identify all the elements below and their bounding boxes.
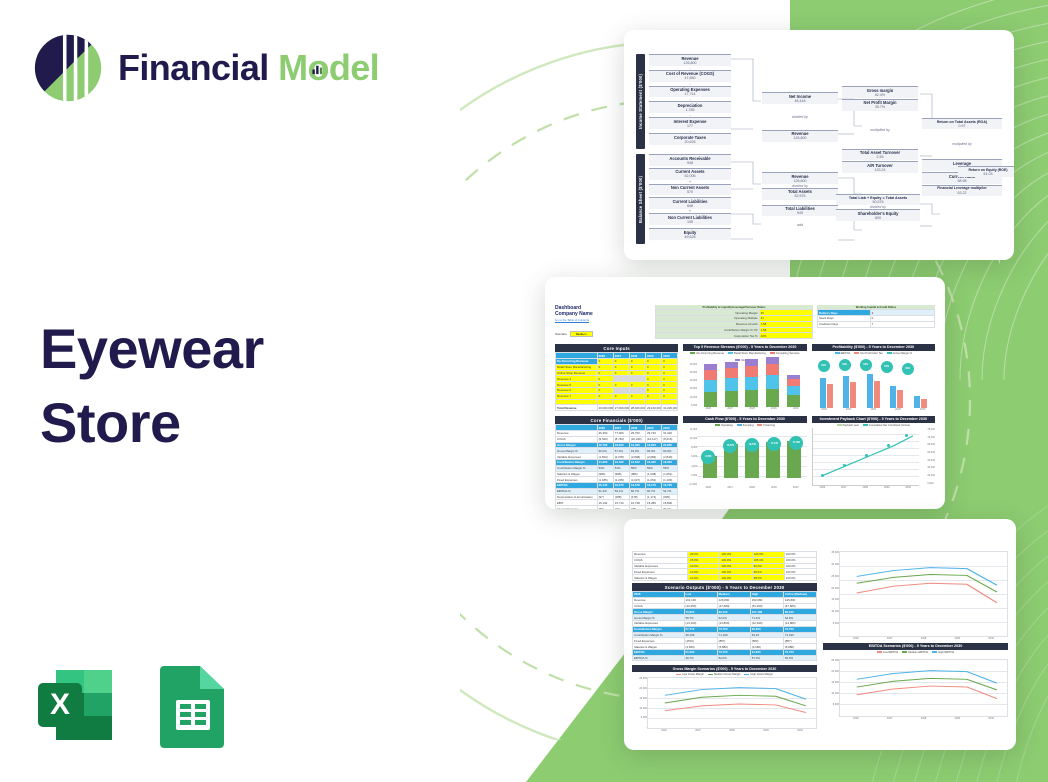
scenario-inputs-table: Revenue-20.0%100.0%120.0%100.0% COGS-15.… <box>632 551 817 581</box>
fnode: Corporate Taxes20,626 <box>649 133 731 145</box>
x-axis-labels: 2026 2027 2028 2029 2030 <box>632 729 817 732</box>
table-row: EBITDA %48.7%52.0%57.0%52.0% <box>633 655 817 661</box>
bar-chart-accent-icon <box>312 62 325 75</box>
fnode: Total Assets52,576 <box>762 188 838 200</box>
core-financials-block: Core Financials ($'000) 2026202720282029… <box>555 416 678 509</box>
scenario-outputs-card[interactable]: Revenue-20.0%100.0%120.0%100.0% COGS-15.… <box>624 519 1016 750</box>
table-row: Corporation Tax %20% <box>656 333 813 339</box>
fnode: Net Income48,418 <box>762 92 838 104</box>
x-axis-labels: 2026 2027 2028 2029 2030 <box>812 408 935 411</box>
x-axis-labels: 2026 2027 2028 2029 2030 <box>812 486 919 489</box>
fnode: Equity49,628 <box>649 228 731 240</box>
core-financials-table: 20262027202820292030 Revenue26,30077,000… <box>555 424 678 509</box>
table-row: Interest Expense(80)(10)(28)(10)(8,14) <box>556 506 678 509</box>
plot-area: 8,456 16,370 16,750 17,120 17,480 <box>697 428 806 486</box>
fnode: Total Liab + Equity = Total Assets50,576 <box>836 194 920 205</box>
file-format-icons: X <box>34 662 230 748</box>
ratios-blue-panel: Working Capital & Credit Ratios Debtors … <box>817 305 935 328</box>
mid-node-1: Net Income48,418 divided by Revenue126,8… <box>762 92 838 142</box>
pie-bar-chart-logo-icon <box>32 32 104 104</box>
plot-area: 75,000 70,000 60,000 50,000 40,000 30,00… <box>812 428 919 486</box>
fnode: Revenue126,800 <box>649 54 731 66</box>
brand-wordmark: Financial Model <box>118 47 379 89</box>
y-axis-labels: 30,000 25,000 20,000 15,000 10,000 5,000 <box>683 363 697 407</box>
brand-word-green: Model <box>278 47 379 88</box>
fnode: Current Assets52,006 <box>649 168 731 180</box>
fnode: Total Asset Turnover2.55 <box>842 149 918 161</box>
profitability-chart: Profitability ($'000) - 5 Years to Decem… <box>812 344 935 411</box>
microsoft-excel-icon[interactable]: X <box>34 662 120 748</box>
y-axis-labels: 35,000 30,000 25,000 20,000 15,000 10,00… <box>823 551 839 637</box>
balance-sheet-band: Balance Sheet ($'000) <box>636 154 645 244</box>
fnode: Cost of Revenue (COGS)47,680 <box>649 70 731 82</box>
fnode: Shareholder's Equity800 <box>836 209 920 221</box>
income-statement-band: Income Statement ($'000) <box>636 54 645 149</box>
core-financials-title: Core Financials ($'000) <box>555 416 678 424</box>
flow-connectors-1 <box>731 54 761 244</box>
brand-logo: Financial Model <box>32 32 379 104</box>
x-axis-labels: 2026 2027 2028 2029 2030 <box>683 407 806 410</box>
y-axis-labels: 75,000 70,000 60,000 50,000 40,000 30,00… <box>927 428 935 485</box>
plot-area <box>839 659 1008 717</box>
fnode: Gross margin62.4% <box>842 86 918 98</box>
multiplied-by-label: multiplied by <box>842 111 918 149</box>
operation-label: add <box>762 216 838 227</box>
far-node-group: Return on Total Assets (ROA)0.97 multipl… <box>922 118 1002 196</box>
ebitda-scenarios-chart: 35,000 30,000 25,000 20,000 15,000 10,00… <box>823 551 1008 655</box>
lower-scenarios-chart: 25,000 20,000 15,000 10,000 5,000 - <box>823 659 1008 720</box>
plot-area <box>839 551 1008 637</box>
ratios-green-panel: Profitability & Liquidity/Leverage/Turno… <box>655 305 813 339</box>
core-inputs-block: Core Inputs 2026 2027 2028 2029 2030 Re-… <box>555 344 678 411</box>
toc-link[interactable]: Go to the Table of Contents <box>555 318 651 322</box>
right-node-group-2: Total Liab + Equity = Total Assets50,576… <box>836 194 920 221</box>
scenario-table-title: Scenario Outputs ($'000) - 5 Years to De… <box>632 583 817 591</box>
core-inputs-title: Core Inputs <box>555 344 678 352</box>
y-axis-labels: 25,000 20,000 15,000 10,000 5,000 - <box>823 659 839 717</box>
right-node-group-1: Gross margin62.4% Net Profit Margin35.7%… <box>842 86 918 173</box>
plot-area: 62% 62% 62% 61% 60% <box>812 356 935 408</box>
scenario-label: Scenario <box>555 332 567 336</box>
dashboard-heading: Dashboard Company Name Go to the Table o… <box>555 305 651 337</box>
financial-statement-flow-card[interactable]: Income Statement ($'000) Balance Sheet (… <box>624 30 1014 260</box>
table-row: Salaries & Wages-10.0%100.0%98.0%100.0% <box>633 575 817 581</box>
x-axis-labels: 2026 2027 2028 2029 2030 <box>683 486 806 489</box>
brand-word-dark: Financial <box>118 47 269 88</box>
fnode: Accounts Receivable948 <box>649 154 731 166</box>
roe-node: Return on Equity (ROE) 61.03 <box>958 166 1014 177</box>
fnode: Revenue126,800 <box>762 130 838 142</box>
income-node-list: Revenue126,800 - Cost of Revenue (COGS)4… <box>649 54 731 145</box>
plot-area <box>647 677 817 729</box>
table-row: Creditors Days7 <box>818 321 935 327</box>
operation-label: divided by <box>762 104 838 130</box>
table-row: Total Revenue20,000,00027,000,00028,400,… <box>556 405 678 411</box>
y-axis-labels: 25,000 20,000 15,000 10,000 5,000 - <box>632 677 647 729</box>
green-ratio-table: Operating Margin35 Operating Multiple31 … <box>655 309 813 339</box>
balance-node-list: Accounts Receivable948 Current Assets52,… <box>649 154 731 240</box>
fnode: Non Current Liabilities105 <box>649 213 731 225</box>
fnode: Return on Total Assets (ROA)0.97 <box>922 118 1002 129</box>
chart-legend: Low EBITDA Medium EBITDA High EBITDA <box>823 650 1008 655</box>
top5-revenue-streams-chart: Top 5 Revenue Streams ($'000) - 5 Years … <box>683 344 806 411</box>
page-title-line2: Store <box>40 386 264 460</box>
scenario-outputs-table: 2026 Low Medium High Active (Medium) Rev… <box>632 591 817 661</box>
fnode: Non Current Assets570 <box>649 184 731 196</box>
plot-area <box>697 363 806 407</box>
y-axis-labels: 12,00010,0008,000 6,0004,0002,000(2,000) <box>683 428 697 486</box>
svg-text:X: X <box>50 688 70 721</box>
page-title: Eyewear Store <box>40 312 264 460</box>
dashboard-summary-card[interactable]: Dashboard Company Name Go to the Table o… <box>545 277 945 509</box>
x-axis-labels: 2026 2027 2028 2029 2030 <box>823 637 1008 640</box>
investment-payback-chart: Investment Payback Chart ($'000) - 5 Yea… <box>812 416 935 509</box>
fnode: Net Profit Margin35.7% <box>842 99 918 111</box>
blue-ratio-table: Debtors Days3 Stock Days0 Creditors Days… <box>817 309 935 327</box>
mid-node-2: Revenue126,800 divided by Total Assets52… <box>762 172 838 227</box>
cash-flow-chart: Cash Flow ($'000) - 5 Years to December … <box>683 416 806 509</box>
gross-margin-scenarios-chart: Gross Margin Scenarios ($'000) - 5 Years… <box>632 665 817 732</box>
google-sheets-icon[interactable] <box>156 662 230 748</box>
fnode: Total Liabilities949 <box>762 205 838 217</box>
core-inputs-table: 2026 2027 2028 2029 2030 Re-Occurring Re… <box>555 352 678 411</box>
x-axis-labels: 2026 2027 2028 2029 2030 <box>823 717 1008 720</box>
fnode: A/R Turnover133.24 <box>842 161 918 173</box>
scenario-select[interactable]: Medium <box>570 331 593 337</box>
fnode: Financial Leverage multiplier63.22 <box>922 185 1002 196</box>
page-title-line1: Eyewear <box>40 312 264 386</box>
multiplied-by-label-2: multiplied by <box>922 129 1002 159</box>
fnode: Revenue126,800 <box>762 172 838 184</box>
